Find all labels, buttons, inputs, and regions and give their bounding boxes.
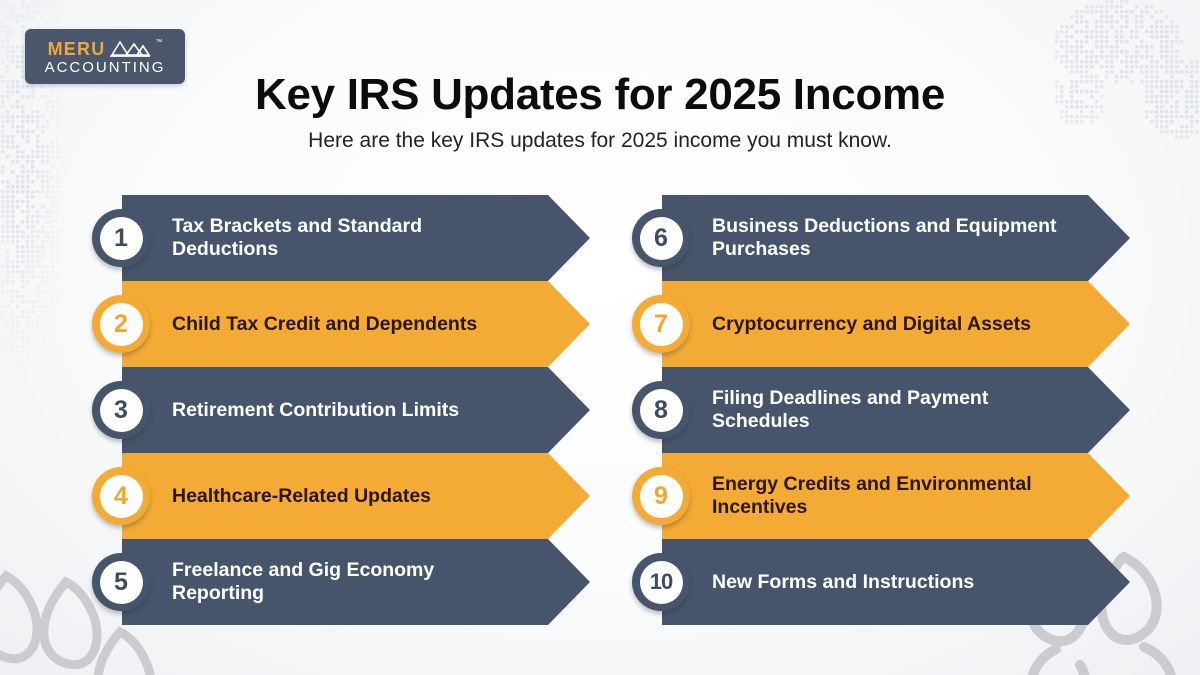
arrow-list-item-label: Child Tax Credit and Dependents <box>172 313 477 336</box>
arrow-list-item-label: Retirement Contribution Limits <box>172 399 459 422</box>
arrow-list-item[interactable]: 5Freelance and Gig Economy Reporting <box>70 539 590 625</box>
step-number: 5 <box>114 570 128 595</box>
arrow-list-item-label: Cryptocurrency and Digital Assets <box>712 313 1031 336</box>
step-number-badge: 10 <box>632 553 690 611</box>
arrow-list-item[interactable]: 3Retirement Contribution Limits <box>70 367 590 453</box>
step-number: 6 <box>654 226 668 251</box>
mountain-icon <box>109 39 151 58</box>
arrow-list-item-label: Filing Deadlines and Payment Schedules <box>712 387 1070 433</box>
header: Key IRS Updates for 2025 Income Here are… <box>0 72 1200 153</box>
step-number: 3 <box>114 398 128 423</box>
arrow-list-item[interactable]: 9Energy Credits and Environmental Incent… <box>610 453 1130 539</box>
arrow-list-item[interactable]: 8Filing Deadlines and Payment Schedules <box>610 367 1130 453</box>
right-column: 6Business Deductions and Equipment Purch… <box>610 195 1130 625</box>
badge-inner-circle: 5 <box>100 561 143 604</box>
step-number-badge: 8 <box>632 381 690 439</box>
left-column: 1Tax Brackets and Standard Deductions2Ch… <box>70 195 590 625</box>
step-number-badge: 6 <box>632 209 690 267</box>
step-number: 9 <box>654 484 668 509</box>
arrow-list-item[interactable]: 6Business Deductions and Equipment Purch… <box>610 195 1130 281</box>
arrow-list-item-label: Business Deductions and Equipment Purcha… <box>712 215 1070 261</box>
step-number-badge: 7 <box>632 295 690 353</box>
arrow-list-item[interactable]: 7Cryptocurrency and Digital Assets <box>610 281 1130 367</box>
badge-inner-circle: 4 <box>100 475 143 518</box>
step-number-badge: 5 <box>92 553 150 611</box>
badge-inner-circle: 3 <box>100 389 143 432</box>
step-number: 4 <box>114 484 128 509</box>
arrow-list-item-label: Freelance and Gig Economy Reporting <box>172 559 530 605</box>
badge-inner-circle: 9 <box>640 475 683 518</box>
step-number-badge: 9 <box>632 467 690 525</box>
arrow-list-item[interactable]: 10New Forms and Instructions <box>610 539 1130 625</box>
badge-inner-circle: 1 <box>100 217 143 260</box>
step-number: 1 <box>114 226 128 251</box>
badge-inner-circle: 7 <box>640 303 683 346</box>
step-number: 7 <box>654 312 668 337</box>
page-subtitle: Here are the key IRS updates for 2025 in… <box>0 129 1200 153</box>
step-number: 8 <box>654 398 668 423</box>
trademark-icon: ™ <box>155 39 162 46</box>
arrow-list-item-label: Tax Brackets and Standard Deductions <box>172 215 530 261</box>
arrow-list-item-label: Healthcare-Related Updates <box>172 485 431 508</box>
step-number-badge: 2 <box>92 295 150 353</box>
step-number-badge: 1 <box>92 209 150 267</box>
step-number: 10 <box>650 571 672 593</box>
logo-primary-text: MERU <box>48 40 106 58</box>
page-title: Key IRS Updates for 2025 Income <box>0 72 1200 118</box>
infographic-canvas: MERU ™ ACCOUNTING Key IRS Updates for 20… <box>0 0 1200 675</box>
logo-wordmark-row: MERU ™ <box>48 38 163 59</box>
badge-inner-circle: 2 <box>100 303 143 346</box>
badge-inner-circle: 10 <box>640 561 683 604</box>
badge-inner-circle: 8 <box>640 389 683 432</box>
arrow-list-item-label: Energy Credits and Environmental Incenti… <box>712 473 1070 519</box>
step-number-badge: 3 <box>92 381 150 439</box>
step-number: 2 <box>114 312 128 337</box>
arrow-list-container: 1Tax Brackets and Standard Deductions2Ch… <box>0 195 1200 625</box>
arrow-list-item[interactable]: 1Tax Brackets and Standard Deductions <box>70 195 590 281</box>
arrow-list-item[interactable]: 2Child Tax Credit and Dependents <box>70 281 590 367</box>
arrow-list-item-label: New Forms and Instructions <box>712 571 974 594</box>
arrow-list-item[interactable]: 4Healthcare-Related Updates <box>70 453 590 539</box>
step-number-badge: 4 <box>92 467 150 525</box>
badge-inner-circle: 6 <box>640 217 683 260</box>
